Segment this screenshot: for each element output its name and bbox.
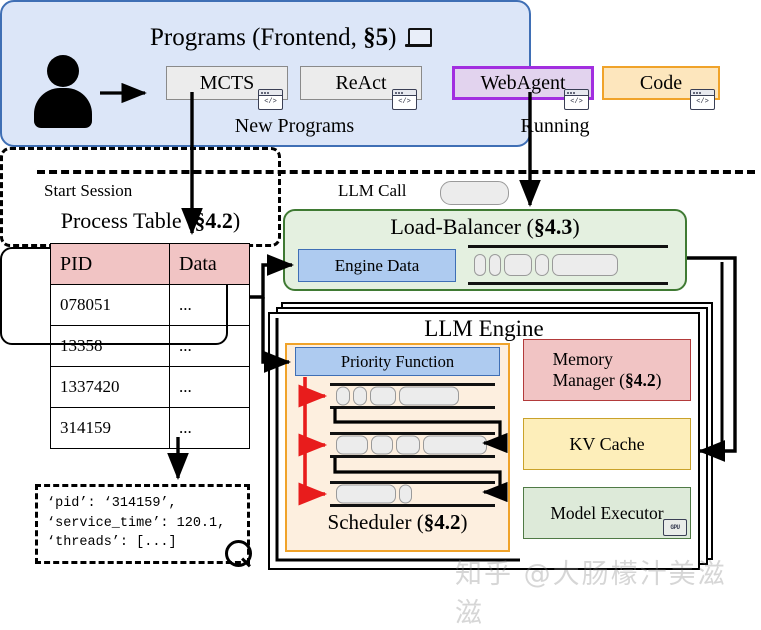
model-executor-block[interactable]: Model Executor GPU: [523, 487, 691, 539]
load-balancer-title-text: Load-Balancer (§4.3): [390, 214, 579, 239]
cell-pid: 1337420: [51, 367, 170, 408]
program-label: WebAgent: [480, 72, 565, 95]
person-body: [34, 88, 92, 128]
frontend-title-text: Programs (Frontend, §5): [150, 24, 397, 51]
queue-token: [336, 387, 350, 406]
process-detail-box: ‘pid’: ‘314159’, ‘service_time’: 120.1, …: [35, 484, 250, 564]
code-window-icon: </>: [392, 89, 417, 110]
gpu-icon: GPU: [663, 519, 687, 536]
person-head: [47, 55, 79, 87]
cell-data: ...: [170, 367, 250, 408]
laptop-icon: [406, 28, 432, 47]
engine-data-label: Engine Data: [335, 256, 420, 276]
start-session-label: Start Session: [44, 181, 132, 201]
queue-token: [336, 485, 396, 504]
load-balancer-queue: [468, 245, 668, 285]
queue-token: [399, 387, 459, 406]
frontend-title: Programs (Frontend, §5): [150, 24, 670, 58]
queue-token: [396, 436, 420, 455]
queue-token: [371, 436, 393, 455]
scheduler-queue: [330, 383, 495, 409]
magnifier-icon: [225, 540, 255, 570]
col-header-pid: PID: [51, 244, 170, 285]
frontend-backend-divider: [37, 170, 755, 174]
new-programs-label: New Programs: [157, 115, 432, 138]
memory-manager-label: Memory Manager (§4.2): [553, 349, 662, 390]
process-table-title: Process Table (§4.2): [33, 208, 268, 234]
queue-token: [370, 387, 396, 406]
code-window-icon: </>: [258, 89, 283, 110]
table-row[interactable]: 1337420...: [51, 367, 250, 408]
detail-line: ‘threads’: [...]: [47, 533, 238, 553]
program-label: MCTS: [200, 72, 254, 95]
model-executor-label: Model Executor: [550, 503, 663, 524]
llm-call-token-pill: [440, 181, 509, 205]
detail-line: ‘service_time’: 120.1,: [47, 514, 238, 534]
queue-token: [504, 254, 532, 276]
queue-token: [399, 485, 412, 504]
priority-function-label: Priority Function: [341, 352, 454, 372]
cell-pid: 13358: [51, 326, 170, 367]
col-header-data: Data: [170, 244, 250, 285]
cell-data: ...: [170, 285, 250, 326]
queue-token: [535, 254, 549, 276]
scheduler-queue: [330, 432, 495, 458]
program-label: Code: [640, 72, 682, 95]
engine-data-block[interactable]: Engine Data: [298, 249, 456, 282]
program-label: ReAct: [335, 72, 386, 95]
scheduler-queue: [330, 481, 495, 507]
scheduler-label-text: Scheduler (§4.2): [328, 510, 468, 534]
queue-token: [423, 436, 487, 455]
queue-token: [489, 254, 501, 276]
kv-cache-label: KV Cache: [569, 434, 644, 455]
code-window-icon: </>: [564, 89, 589, 110]
watermark: 知乎 @大肠檬汁美滋滋: [455, 552, 755, 630]
queue-token: [552, 254, 618, 276]
cell-pid: 314159: [51, 408, 170, 449]
user-person-icon: [30, 55, 96, 127]
cell-data: ...: [170, 408, 250, 449]
queue-token: [353, 387, 367, 406]
process-table: PID Data 078051...13358...1337420...3141…: [50, 243, 250, 449]
running-label: Running: [443, 115, 667, 138]
queue-token: [474, 254, 486, 276]
process-table-title-text: Process Table (§4.2): [61, 208, 241, 233]
queue-token: [336, 436, 368, 455]
cell-data: ...: [170, 326, 250, 367]
priority-function-block[interactable]: Priority Function: [295, 347, 500, 376]
load-balancer-title: Load-Balancer (§4.3): [283, 214, 687, 240]
cell-pid: 078051: [51, 285, 170, 326]
table-row[interactable]: 078051...: [51, 285, 250, 326]
scheduler-label: Scheduler (§4.2): [285, 510, 510, 535]
code-window-icon: </>: [690, 89, 715, 110]
llm-call-label: LLM Call: [338, 181, 406, 201]
memory-manager-block[interactable]: Memory Manager (§4.2): [523, 339, 691, 401]
detail-line: ‘pid’: ‘314159’,: [47, 494, 238, 514]
table-row[interactable]: 13358...: [51, 326, 250, 367]
table-header-row: PID Data: [51, 244, 250, 285]
table-row[interactable]: 314159...: [51, 408, 250, 449]
kv-cache-block[interactable]: KV Cache: [523, 418, 691, 470]
